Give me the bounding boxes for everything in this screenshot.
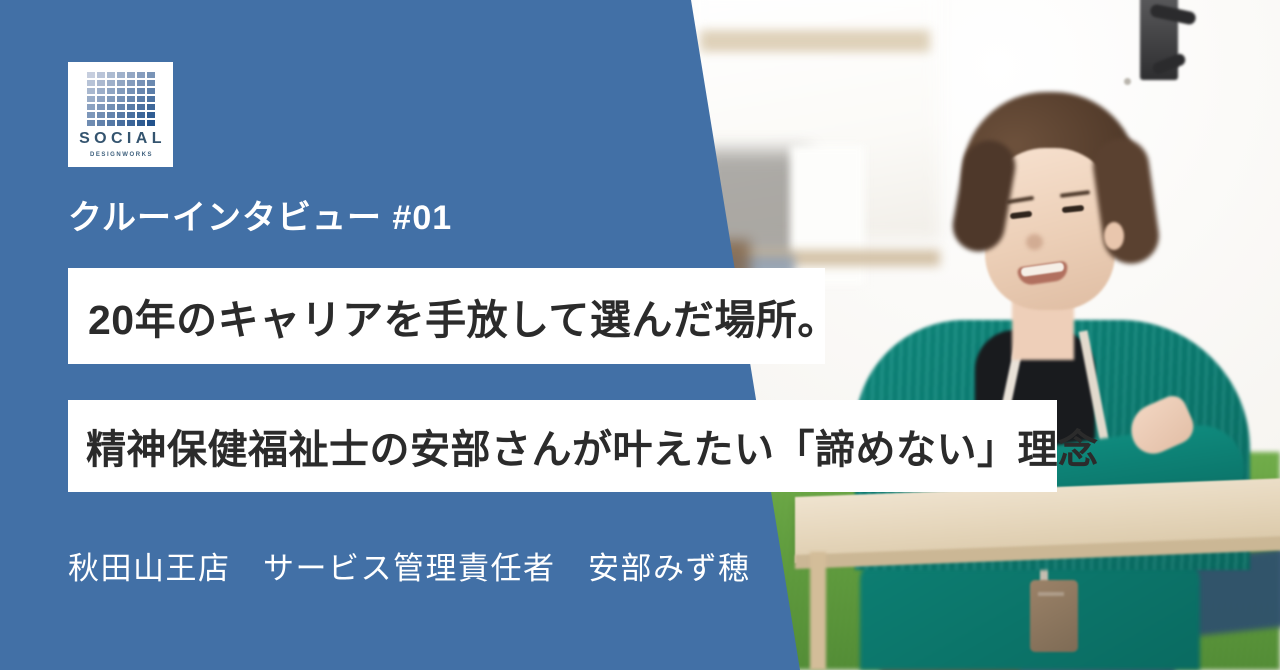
logo-grid-cell <box>117 112 125 118</box>
logo-grid-cell <box>97 80 105 86</box>
logo-grid-cell <box>127 112 135 118</box>
logo-grid-cell <box>147 96 155 102</box>
photo-shelf-upper <box>700 30 930 52</box>
logo-grid-cell <box>117 120 125 126</box>
logo-grid-cell <box>147 120 155 126</box>
byline-credit: 秋田山王店 サービス管理責任者 安部みず穂 <box>68 543 751 588</box>
photo-ear <box>1104 222 1124 250</box>
logo-grid-cell <box>137 96 145 102</box>
logo-grid-cell <box>87 104 95 110</box>
logo-grid-cell <box>107 120 115 126</box>
logo-grid-cell <box>147 112 155 118</box>
logo-grid-cell <box>87 120 95 126</box>
logo-grid-cell <box>147 88 155 94</box>
logo-grid-cell <box>147 80 155 86</box>
logo-grid-cell <box>107 96 115 102</box>
logo-grid-cell <box>87 88 95 94</box>
logo-grid-cell <box>117 72 125 78</box>
logo-grid-cell <box>107 80 115 86</box>
headline-line-2: 精神保健福祉士の安部さんが叶えたい「諦めない」理念 <box>86 417 1099 475</box>
logo-grid-cell <box>87 96 95 102</box>
headline-line-1: 20年のキャリアを手放して選んだ場所。 <box>88 286 839 346</box>
logo-grid-cell <box>137 104 145 110</box>
logo-wordmark: SOCIAL <box>75 131 166 147</box>
logo-grid-icon <box>87 72 155 126</box>
logo-grid-cell <box>127 96 135 102</box>
logo-grid-cell <box>87 80 95 86</box>
logo-grid-cell <box>137 80 145 86</box>
company-logo[interactable]: SOCIAL DESIGNWORKS <box>68 62 173 167</box>
photo-nose <box>1026 234 1043 250</box>
series-kicker: クルーインタビュー #01 <box>68 190 452 239</box>
logo-grid-cell <box>147 72 155 78</box>
logo-grid-cell <box>127 88 135 94</box>
logo-grid-cell <box>97 72 105 78</box>
logo-grid-cell <box>117 104 125 110</box>
headline-box-primary: 20年のキャリアを手放して選んだ場所。 <box>68 268 825 364</box>
logo-grid-cell <box>117 88 125 94</box>
logo-grid-cell <box>147 104 155 110</box>
photo-wall-screw <box>1124 78 1131 85</box>
logo-grid-cell <box>127 72 135 78</box>
logo-grid-cell <box>107 104 115 110</box>
logo-grid-cell <box>97 120 105 126</box>
photo-id-badge <box>1030 580 1078 652</box>
logo-grid-cell <box>97 88 105 94</box>
headline-box-secondary: 精神保健福祉士の安部さんが叶えたい「諦めない」理念 <box>68 400 1057 492</box>
hero-banner: SOCIAL DESIGNWORKS クルーインタビュー #01 20年のキャリ… <box>0 0 1280 670</box>
logo-grid-cell <box>97 112 105 118</box>
logo-grid-cell <box>107 112 115 118</box>
logo-subwordmark: DESIGNWORKS <box>88 152 153 158</box>
logo-grid-cell <box>97 96 105 102</box>
logo-grid-cell <box>127 120 135 126</box>
logo-grid-cell <box>107 72 115 78</box>
logo-grid-cell <box>87 112 95 118</box>
logo-grid-cell <box>107 88 115 94</box>
logo-grid-cell <box>137 120 145 126</box>
photo-table-leg <box>810 552 826 670</box>
logo-grid-cell <box>117 80 125 86</box>
logo-grid-cell <box>127 104 135 110</box>
logo-grid-cell <box>97 104 105 110</box>
logo-grid-cell <box>87 72 95 78</box>
logo-grid-cell <box>127 80 135 86</box>
logo-grid-cell <box>117 96 125 102</box>
logo-grid-cell <box>137 112 145 118</box>
logo-grid-cell <box>137 72 145 78</box>
logo-grid-cell <box>137 88 145 94</box>
